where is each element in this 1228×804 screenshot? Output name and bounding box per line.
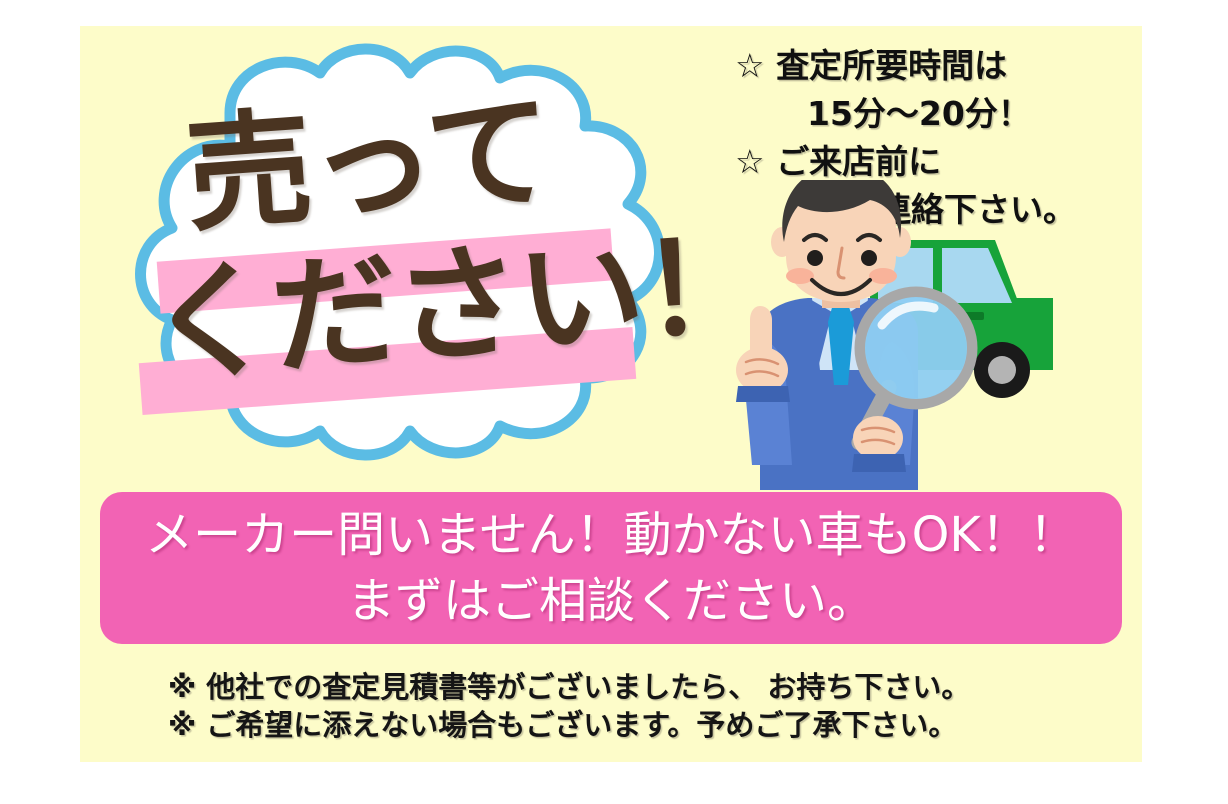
- eye-left: [807, 250, 823, 266]
- footnote-line-1: ※ 他社での査定見積書等がございましたら、 お持ち下さい。: [168, 668, 1088, 706]
- cloud-balloon: [80, 28, 720, 483]
- note-text-2: 15分〜20分！: [807, 94, 1031, 133]
- car-wheel-front-hub: [988, 356, 1016, 384]
- eye-right: [861, 250, 877, 266]
- banner-line-2: まずはご相談ください。: [347, 568, 875, 634]
- poster-canvas: 売って ください！ ☆ 査定所要時間は 15分〜20分！ ☆ ご来店前に ご連絡…: [0, 0, 1228, 804]
- cloud-shape: [141, 49, 660, 455]
- footnote-line-2: ※ ご希望に添えない場合もございます。予めご了承下さい。: [168, 706, 1088, 744]
- call-to-action-banner: メーカー問いません！動かない車もOK！！ まずはご相談ください。: [100, 492, 1122, 644]
- cheek-right: [869, 268, 897, 284]
- star-icon: ☆: [735, 46, 765, 85]
- grip-fist: [853, 416, 903, 460]
- salesman-illustration: [736, 180, 972, 490]
- note-line-2: 15分〜20分！: [735, 90, 1155, 138]
- note-line-3: ☆ ご来店前に: [735, 138, 1155, 186]
- wrist-cuff: [736, 386, 790, 402]
- banner-line-1: メーカー問いません！動かない車もOK！！: [145, 502, 1077, 568]
- cheek-left: [786, 268, 814, 284]
- magnifier-lens: [865, 297, 967, 399]
- grip-cuff: [852, 454, 906, 472]
- note-line-1: ☆ 査定所要時間は: [735, 42, 1155, 90]
- note-text-3: ご来店前に: [776, 142, 941, 181]
- note-text-1: 査定所要時間は: [776, 46, 1007, 85]
- star-icon-2: ☆: [735, 142, 765, 181]
- footnotes-block: ※ 他社での査定見積書等がございましたら、 お持ち下さい。 ※ ご希望に添えない…: [168, 668, 1088, 744]
- illustration-group: [720, 180, 1160, 490]
